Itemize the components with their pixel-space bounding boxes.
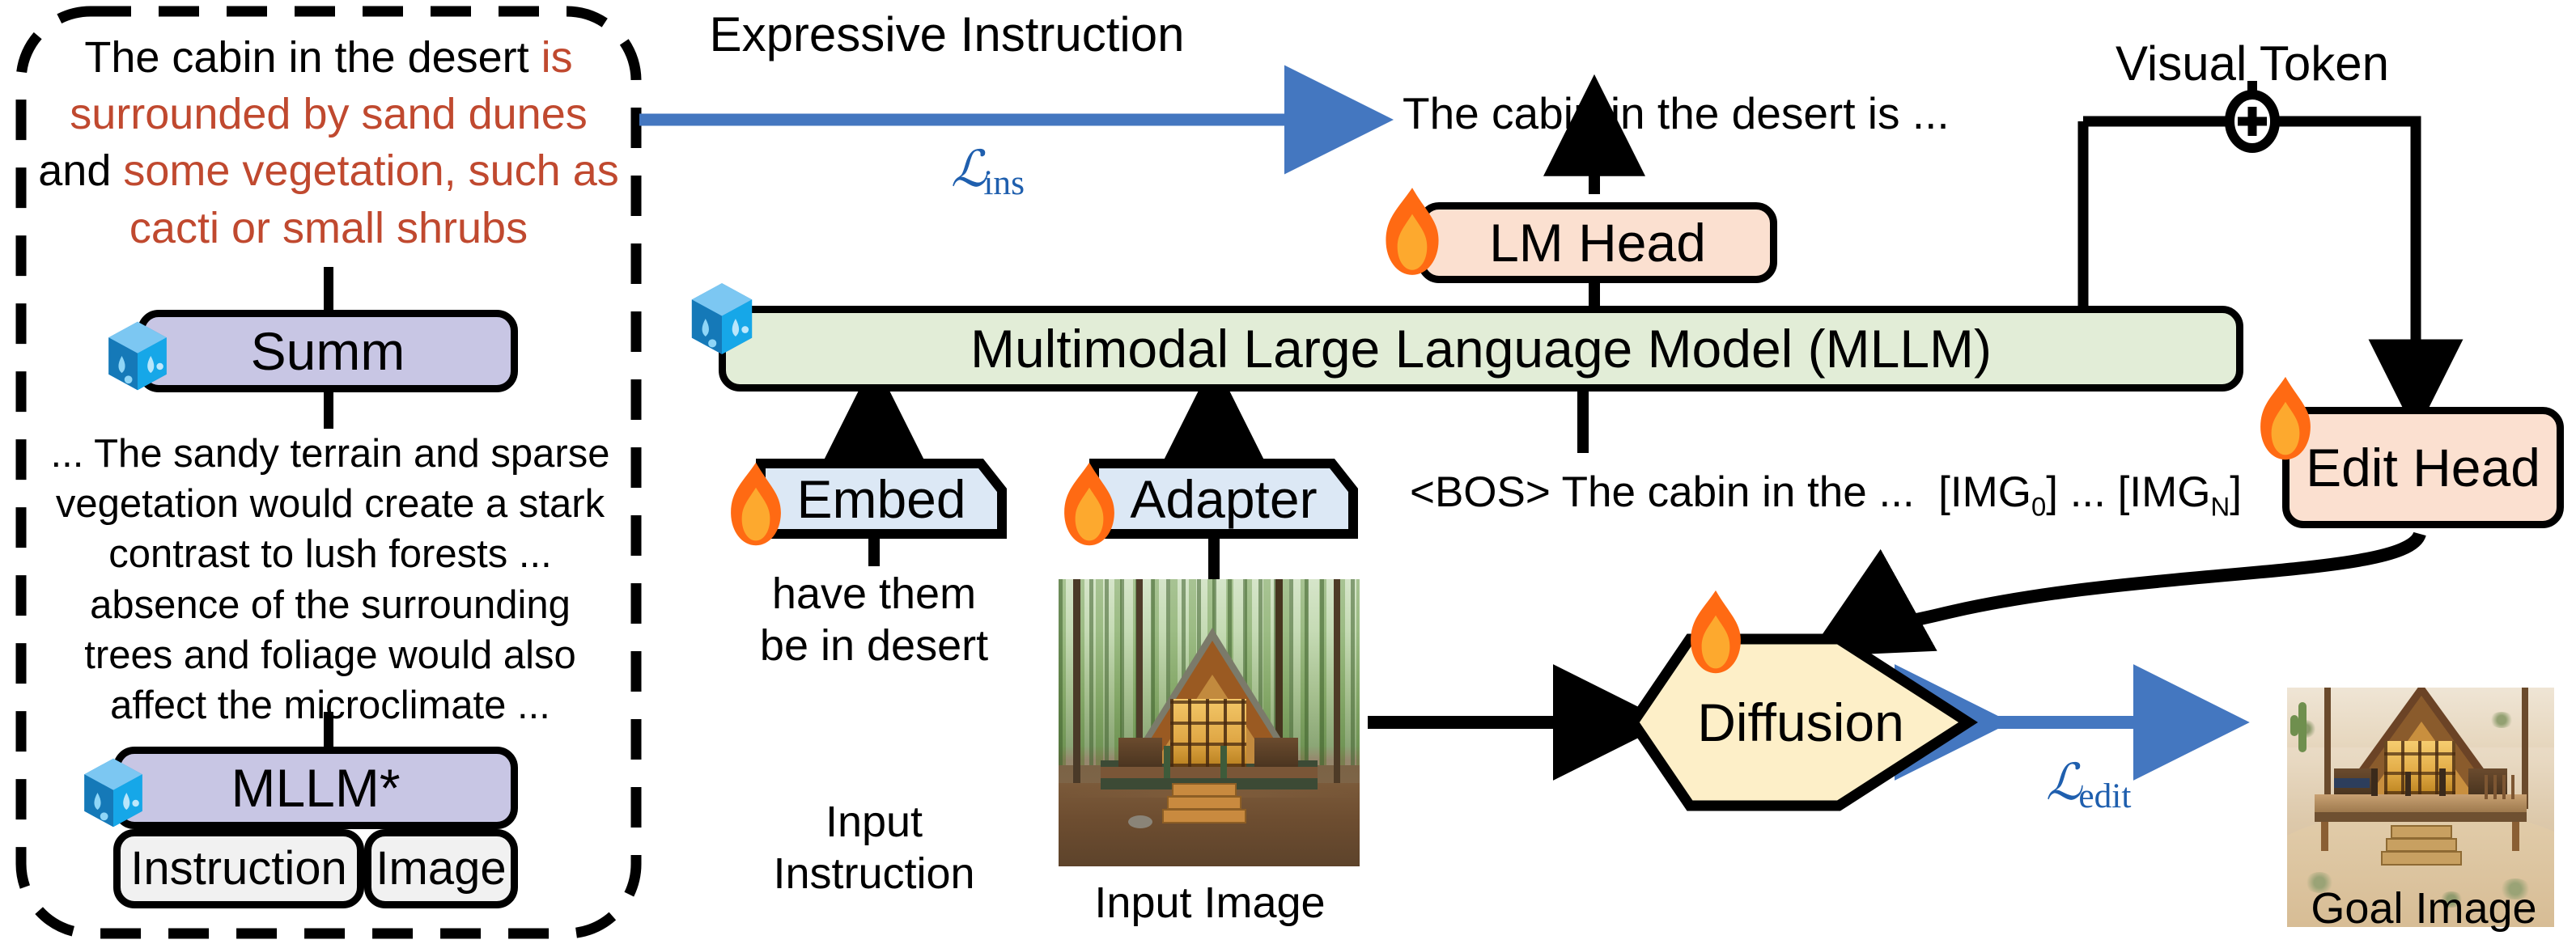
input-instruction-value: have them be in desert bbox=[712, 569, 1036, 671]
edit-head-to-diffusion-arrow bbox=[1839, 534, 2420, 639]
input-image-caption: Input Image bbox=[1044, 878, 1376, 928]
img-token-last: [IMGN] bbox=[2118, 468, 2242, 516]
flame-icon bbox=[1371, 184, 1454, 280]
mllm-label: Multimodal Large Language Model (MLLM) bbox=[970, 322, 1992, 375]
diffusion-label-wrap[interactable]: Diffusion bbox=[1633, 682, 1968, 763]
input-instruction-caption-line2: Instruction bbox=[712, 849, 1036, 900]
frozen-snowflake-icon bbox=[71, 751, 155, 835]
mllm-box[interactable]: Multimodal Large Language Model (MLLM) bbox=[719, 306, 2243, 392]
loss-ins-subscript: ins bbox=[983, 163, 1025, 202]
expressive-instruction-header: Expressive Instruction bbox=[696, 6, 1198, 62]
visual-token-header: Visual Token bbox=[2050, 36, 2455, 91]
instruction-loss-label: ℒins bbox=[951, 139, 1025, 203]
expressive-instruction-prompt: The cabin in the desert is surrounded by… bbox=[37, 29, 620, 256]
frozen-snowflake-icon bbox=[95, 314, 180, 398]
input-instruction-caption: Input Instruction bbox=[712, 797, 1036, 900]
prompt-segment-plain-1: The cabin in the desert bbox=[84, 33, 541, 82]
mllm-star-label: MLLM* bbox=[231, 761, 400, 815]
instruction-input-box[interactable]: Instruction bbox=[113, 829, 364, 908]
flame-icon bbox=[1050, 459, 1128, 550]
edit-loss-label: ℒedit bbox=[2046, 752, 2131, 816]
prompt-segment-highlight-2: some vegetation, such as cacti or small … bbox=[123, 146, 618, 252]
instruction-input-label: Instruction bbox=[130, 845, 347, 892]
flame-icon bbox=[1677, 587, 1755, 678]
loss-edit-symbol: ℒ bbox=[2046, 756, 2082, 811]
loss-ins-symbol: ℒ bbox=[951, 142, 987, 197]
edit-head-label: Edit Head bbox=[2306, 441, 2540, 494]
summ-box[interactable]: Summ bbox=[138, 310, 518, 392]
img-token-first: [IMG0] bbox=[1938, 468, 2058, 516]
sum-operator-circle bbox=[2230, 95, 2275, 148]
input-instruction-caption-line1: Input bbox=[712, 797, 1036, 849]
prompt-token-text: The cabin in the ... bbox=[1562, 468, 1915, 516]
edit-head-box[interactable]: Edit Head bbox=[2282, 407, 2564, 528]
diffusion-label: Diffusion bbox=[1697, 696, 1904, 749]
image-input-box[interactable]: Image bbox=[364, 829, 518, 908]
figure-canvas: The cabin in the desert is surrounded by… bbox=[0, 0, 2576, 944]
mllm-star-box[interactable]: MLLM* bbox=[113, 747, 518, 829]
embed-label: Embed bbox=[796, 472, 965, 526]
bos-token: <BOS> bbox=[1410, 468, 1551, 516]
frozen-snowflake-icon bbox=[678, 275, 766, 362]
input-image bbox=[1059, 579, 1360, 866]
image-input-label: Image bbox=[376, 845, 506, 892]
input-instruction-value-line2: be in desert bbox=[712, 620, 1036, 672]
lm-output-text: The cabin in the desert is ... bbox=[1403, 87, 1950, 139]
token-sequence: <BOS> The cabin in the ... [IMG0] ... [I… bbox=[1410, 468, 2242, 523]
loss-edit-subscript: edit bbox=[2078, 777, 2131, 815]
goal-image-caption: Goal Image bbox=[2274, 883, 2574, 933]
summ-box-label: Summ bbox=[251, 324, 405, 378]
flame-icon bbox=[2247, 374, 2324, 464]
adapter-label-wrap[interactable]: Adapter bbox=[1094, 464, 1353, 534]
embed-label-wrap[interactable]: Embed bbox=[761, 464, 1002, 534]
prompt-segment-plain-2: and bbox=[38, 146, 123, 195]
token-ellipsis: ... bbox=[2070, 468, 2106, 516]
lm-head-box[interactable]: LM Head bbox=[1418, 202, 1777, 283]
flame-icon bbox=[717, 459, 795, 550]
input-instruction-value-line1: have them bbox=[712, 569, 1036, 620]
adapter-label: Adapter bbox=[1130, 472, 1317, 526]
lm-head-label: LM Head bbox=[1489, 216, 1706, 269]
summary-text: ... The sandy terrain and sparse vegetat… bbox=[42, 429, 618, 730]
